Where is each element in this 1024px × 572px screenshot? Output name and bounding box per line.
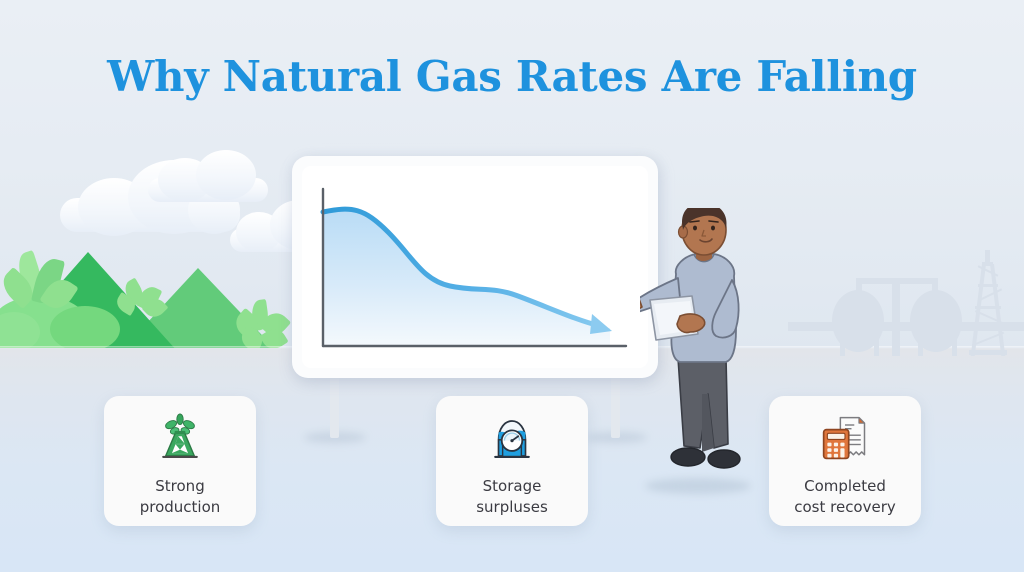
drilling-derrick: [966, 250, 1010, 356]
page-title: Why Natural Gas Rates Are Falling: [0, 52, 1024, 101]
card-label-line2: production: [140, 498, 221, 516]
card-storage-surpluses[interactable]: Storage surpluses: [436, 396, 588, 526]
card-label-production: Strong production: [140, 476, 221, 518]
gas-storage-gauge-icon: [483, 410, 541, 466]
card-completed-cost-recovery[interactable]: Completed cost recovery: [769, 396, 921, 526]
cloud-middle: [148, 150, 268, 202]
card-label-line2: cost recovery: [794, 498, 896, 516]
board-leg-right: [611, 376, 620, 438]
leaf-cluster-left: [6, 252, 78, 316]
card-label-line1: Storage: [483, 477, 542, 495]
presentation-board: [292, 156, 658, 378]
presenter-person: [640, 208, 760, 490]
card-strong-production[interactable]: Strong production: [104, 396, 256, 526]
card-label-line1: Completed: [804, 477, 886, 495]
card-label-recovery: Completed cost recovery: [794, 476, 896, 518]
declining-rates-chart: [292, 156, 658, 378]
calculator-invoice-icon: [816, 410, 874, 466]
oil-derrick-leaf-icon: [151, 410, 209, 466]
board-leg-left: [330, 376, 339, 438]
card-label-storage: Storage surpluses: [476, 476, 548, 518]
card-label-line1: Strong: [155, 477, 204, 495]
leaf-sprig-right: [236, 300, 292, 352]
infographic-canvas: Why Natural Gas Rates Are Falling: [0, 0, 1024, 572]
green-mountains: [0, 248, 288, 352]
gas-plant-silhouette: [788, 238, 1024, 352]
leaf-sprig-mid: [116, 276, 168, 318]
card-label-line2: surpluses: [476, 498, 548, 516]
